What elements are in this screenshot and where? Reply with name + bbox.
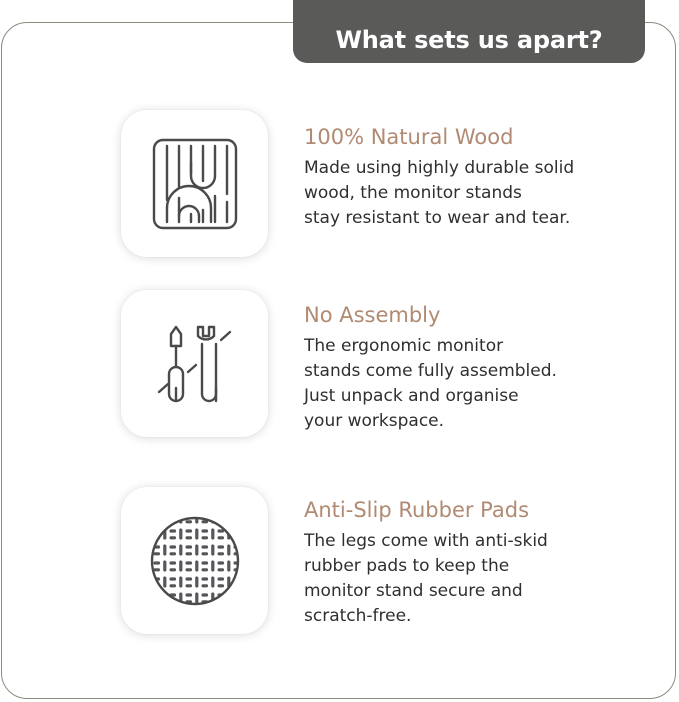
feature-text-block: No Assembly The ergonomic monitor stands… [304, 290, 634, 434]
feature-icon-card [121, 487, 268, 634]
feature-description: Made using highly durable solid wood, th… [304, 156, 634, 231]
feature-icon-card [121, 290, 268, 437]
feature-description-line: scratch-free. [304, 604, 634, 629]
feature-description-line: The ergonomic monitor [304, 334, 634, 359]
feature-description-line: stay resistant to wear and tear. [304, 206, 634, 231]
feature-description-line: monitor stand secure and [304, 579, 634, 604]
feature-description-line: rubber pads to keep the [304, 554, 634, 579]
wood-grain-icon [150, 136, 240, 232]
page-root: What sets us apart? [0, 0, 679, 702]
feature-title: No Assembly [304, 304, 634, 326]
feature-description-line: stands come fully assembled. [304, 359, 634, 384]
feature-description-line: wood, the monitor stands [304, 181, 634, 206]
tools-screwdriver-wrench-icon [147, 316, 243, 412]
woven-rubber-pad-icon [145, 511, 245, 611]
feature-icon-card [121, 110, 268, 257]
feature-description: The ergonomic monitor stands come fully … [304, 334, 634, 434]
feature-description-line: Made using highly durable solid [304, 156, 634, 181]
feature-item-anti-slip-pads: Anti-Slip Rubber Pads The legs come with… [121, 487, 634, 634]
feature-item-no-assembly: No Assembly The ergonomic monitor stands… [121, 290, 634, 437]
feature-list: 100% Natural Wood Made using highly dura… [0, 0, 679, 702]
feature-text-block: Anti-Slip Rubber Pads The legs come with… [304, 487, 634, 629]
feature-description-line: The legs come with anti-skid [304, 529, 634, 554]
feature-title: 100% Natural Wood [304, 126, 634, 148]
feature-description-line: Just unpack and organise [304, 384, 634, 409]
feature-description: The legs come with anti-skid rubber pads… [304, 529, 634, 629]
feature-description-line: your workspace. [304, 409, 634, 434]
feature-item-natural-wood: 100% Natural Wood Made using highly dura… [121, 110, 634, 257]
feature-text-block: 100% Natural Wood Made using highly dura… [304, 110, 634, 231]
feature-title: Anti-Slip Rubber Pads [304, 499, 634, 521]
